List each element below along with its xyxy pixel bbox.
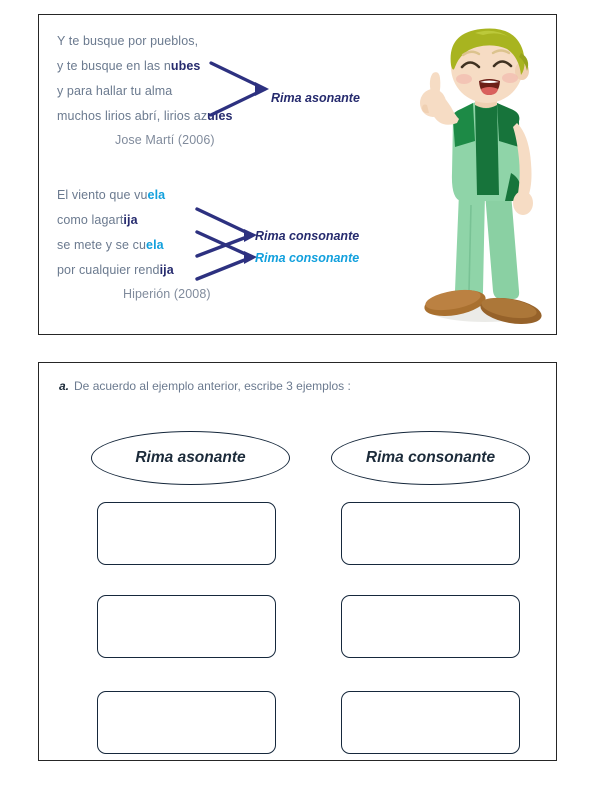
poem-one-source: Jose Martí (2006) [57,133,233,147]
poem-one: Y te busque por pueblos, y te busque en … [57,29,233,147]
rhyme-label-asonante: Rima asonante [271,91,360,105]
poem-two-source: Hiperión (2008) [57,287,211,301]
boy-pointing-illustration [407,23,555,331]
poem-two: El viento que vuela como lagartija se me… [57,183,211,301]
category-title: Rima asonante [135,449,245,467]
category-oval-asonante: Rima asonante [91,431,290,485]
answer-box-consonante-2[interactable] [341,595,520,658]
poem-line-highlight: ija [123,213,137,227]
poem-two-line-4: por cualquier rendija [57,258,211,283]
rhyme-label-consonante-two: Rima consonante [255,251,359,265]
poem-one-line-3: y para hallar tu alma [57,79,233,104]
category-oval-consonante: Rima consonante [331,431,530,485]
poem-line-highlight: ela [146,238,164,252]
poem-two-line-2: como lagartija [57,208,211,233]
answer-box-asonante-1[interactable] [97,502,276,565]
poem-two-line-1: El viento que vuela [57,183,211,208]
answer-box-asonante-2[interactable] [97,595,276,658]
poem-line-text: y te busque en las n [57,59,171,73]
poem-line-text: por cualquier rend [57,263,160,277]
answer-box-asonante-3[interactable] [97,691,276,754]
poem-line-text: muchos lirios abrí, lirios az [57,109,207,123]
answer-box-consonante-1[interactable] [341,502,520,565]
answer-box-consonante-3[interactable] [341,691,520,754]
poem-one-line-1: Y te busque por pueblos, [57,29,233,54]
item-marker: a. [59,379,69,393]
poem-line-text: se mete y se cu [57,238,146,252]
poem-line-highlight: ules [207,109,232,123]
instruction-text: De acuerdo al ejemplo anterior, escribe … [74,379,351,393]
rhyme-label-consonante-one: Rima consonante [255,229,359,243]
category-title: Rima consonante [366,449,495,467]
poem-one-line-4: muchos lirios abrí, lirios azules [57,104,233,129]
poem-line-highlight: ubes [171,59,201,73]
poem-line-text: y para hallar tu alma [57,84,172,98]
poem-line-highlight: ija [160,263,174,277]
poem-two-line-3: se mete y se cuela [57,233,211,258]
poem-one-line-2: y te busque en las nubes [57,54,233,79]
example-panel: Y te busque por pueblos, y te busque en … [38,14,557,335]
exercise-panel: a.De acuerdo al ejemplo anterior, escrib… [38,362,557,761]
poem-line-text: El viento que vu [57,188,148,202]
poem-line-highlight: ela [148,188,166,202]
poem-line-text: como lagart [57,213,123,227]
instruction-row: a.De acuerdo al ejemplo anterior, escrib… [59,379,351,393]
poem-line-text: Y te busque por pueblos, [57,34,198,48]
